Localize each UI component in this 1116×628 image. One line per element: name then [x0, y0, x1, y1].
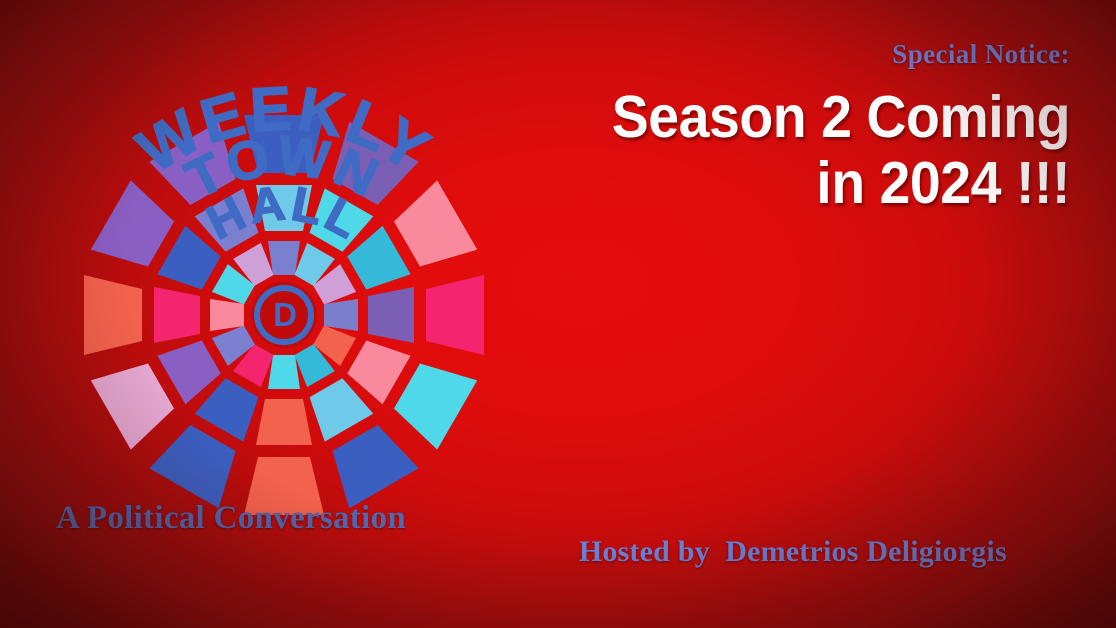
special-notice-label: Special Notice:: [440, 40, 1070, 70]
emblem-letter: D: [273, 296, 297, 333]
headline-line-1: Season 2 Coming: [612, 84, 1070, 150]
host-credit: Hosted by Demetrios Deligiorgis: [548, 501, 1007, 603]
host-spacer: [710, 535, 725, 568]
special-notice-block: Special Notice: Season 2 Coming in 2024 …: [440, 40, 1070, 216]
host-prefix-label: Hosted by: [579, 535, 710, 568]
headline-line-2: in 2024 !!!: [478, 150, 1070, 216]
host-name: Demetrios Deligiorgis: [725, 535, 1007, 568]
democratic-party-d-icon: D: [251, 282, 317, 348]
show-tagline: A Political Conversation: [56, 500, 406, 537]
slide-canvas: D WEEKLY TOWN HALL Special Notice: Seaso…: [0, 0, 1116, 628]
season-headline: Season 2 Coming in 2024 !!!: [478, 84, 1070, 216]
